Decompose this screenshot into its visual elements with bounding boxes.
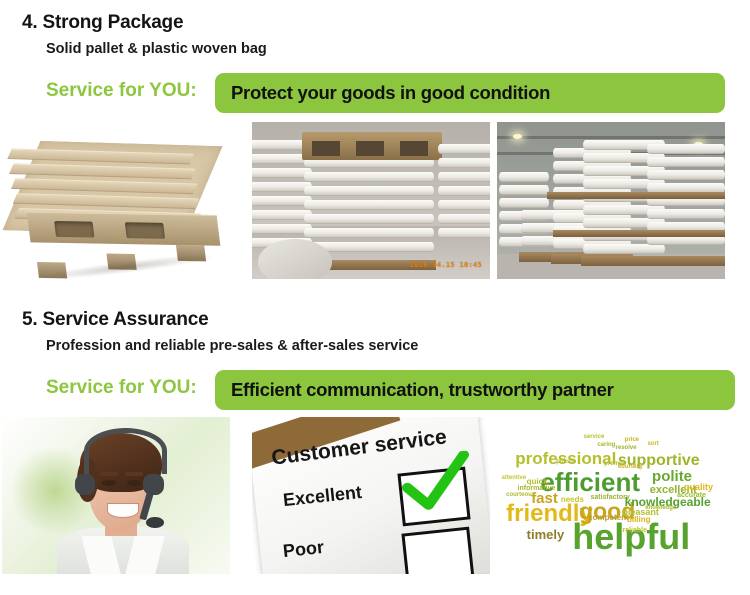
photo-service-word-cloud: professional supportive efficient polite… — [497, 417, 725, 574]
cloud-word: courteous — [506, 492, 535, 498]
service-value-pill-4: Protect your goods in good condition — [215, 73, 725, 113]
section-subtitle-4: Solid pallet & plastic woven bag — [46, 41, 267, 57]
service-value-text-5: Efficient communication, trustworthy par… — [215, 379, 614, 401]
product-description-page: 4. Strong Package Solid pallet & plastic… — [0, 0, 750, 595]
service-label-4: Service for YOU: — [46, 80, 197, 102]
cloud-word: helpful — [572, 519, 690, 555]
service-label-5: Service for YOU: — [46, 377, 197, 399]
cloud-word: resolve — [616, 445, 637, 451]
cloud-word: courtesy — [618, 464, 643, 470]
photo-customer-service-survey: Customer service Excellent Poor — [252, 417, 490, 574]
pallet-illustration — [2, 127, 229, 272]
cloud-word: price — [625, 437, 639, 443]
warehouse-scene: 2016.04.15 10:45 — [252, 122, 490, 279]
headset-earcup-left-icon — [75, 474, 96, 496]
headset-microphone-icon — [146, 517, 164, 528]
photo-wooden-pallet — [2, 122, 230, 279]
photo-row-service: Customer service Excellent Poor professi… — [0, 417, 750, 574]
cloud-word: quality — [684, 483, 713, 492]
top-pallet — [302, 132, 442, 160]
warehouse-scene — [497, 122, 725, 279]
ceiling-lamp — [513, 134, 522, 139]
service-value-pill-5: Efficient communication, trustworthy par… — [215, 370, 735, 410]
word-cloud: professional supportive efficient polite… — [497, 417, 725, 574]
section-title-5: 5. Service Assurance — [22, 309, 208, 331]
photo-bagged-goods-on-pallets: 2016.04.15 10:45 — [252, 122, 490, 279]
cloud-word: competent — [588, 514, 628, 522]
cloud-word: attentive — [502, 475, 527, 481]
pallet-front-beam — [27, 212, 221, 246]
cloud-word: timely — [527, 528, 565, 541]
checkmark-icon — [397, 451, 473, 519]
survey-scene: Customer service Excellent Poor — [252, 417, 490, 574]
cloud-word: polish — [556, 459, 574, 465]
cloud-word: sort — [647, 441, 658, 447]
service-strip-4: Service for YOU: Protect your goods in g… — [46, 73, 746, 113]
agent-eye-right — [127, 480, 141, 486]
pallet-divider — [547, 192, 725, 199]
cloud-word: knowledge — [645, 505, 676, 511]
agent-portrait — [2, 417, 230, 574]
ceiling-beam — [497, 136, 725, 139]
cloud-word: billing — [627, 516, 651, 524]
service-value-text-4: Protect your goods in good condition — [215, 82, 550, 104]
pallet-fork-notch — [54, 221, 94, 238]
cloud-word: caring — [597, 442, 615, 448]
agent-smile — [107, 503, 139, 518]
cloud-word: informative — [518, 485, 556, 492]
pallet-scene — [2, 122, 230, 279]
service-strip-5: Service for YOU: Efficient communication… — [46, 370, 746, 410]
agent-eye-left — [102, 480, 116, 486]
cloud-word: needs — [561, 496, 584, 504]
pallet-fork-notch — [125, 222, 165, 239]
bag-stack — [438, 142, 490, 250]
headset-headband-icon — [84, 428, 167, 474]
loose-bag — [258, 239, 332, 279]
cloud-word: reliable — [622, 527, 647, 534]
cloud-word: satisfactory — [590, 494, 629, 501]
bag-stack — [647, 144, 725, 260]
photo-row-package: 2016.04.15 10:45 — [0, 122, 750, 279]
photo-timestamp: 2016.04.15 10:45 — [410, 261, 482, 269]
cloud-word: service — [584, 434, 605, 440]
survey-checkbox-poor[interactable] — [402, 527, 475, 574]
photo-customer-service-agent — [2, 417, 230, 574]
section-subtitle-5: Profession and reliable pre-sales & afte… — [46, 338, 418, 354]
section-title-4: 4. Strong Package — [22, 12, 183, 34]
pallet-divider — [553, 230, 725, 237]
photo-warehouse-bag-stacks — [497, 122, 725, 279]
